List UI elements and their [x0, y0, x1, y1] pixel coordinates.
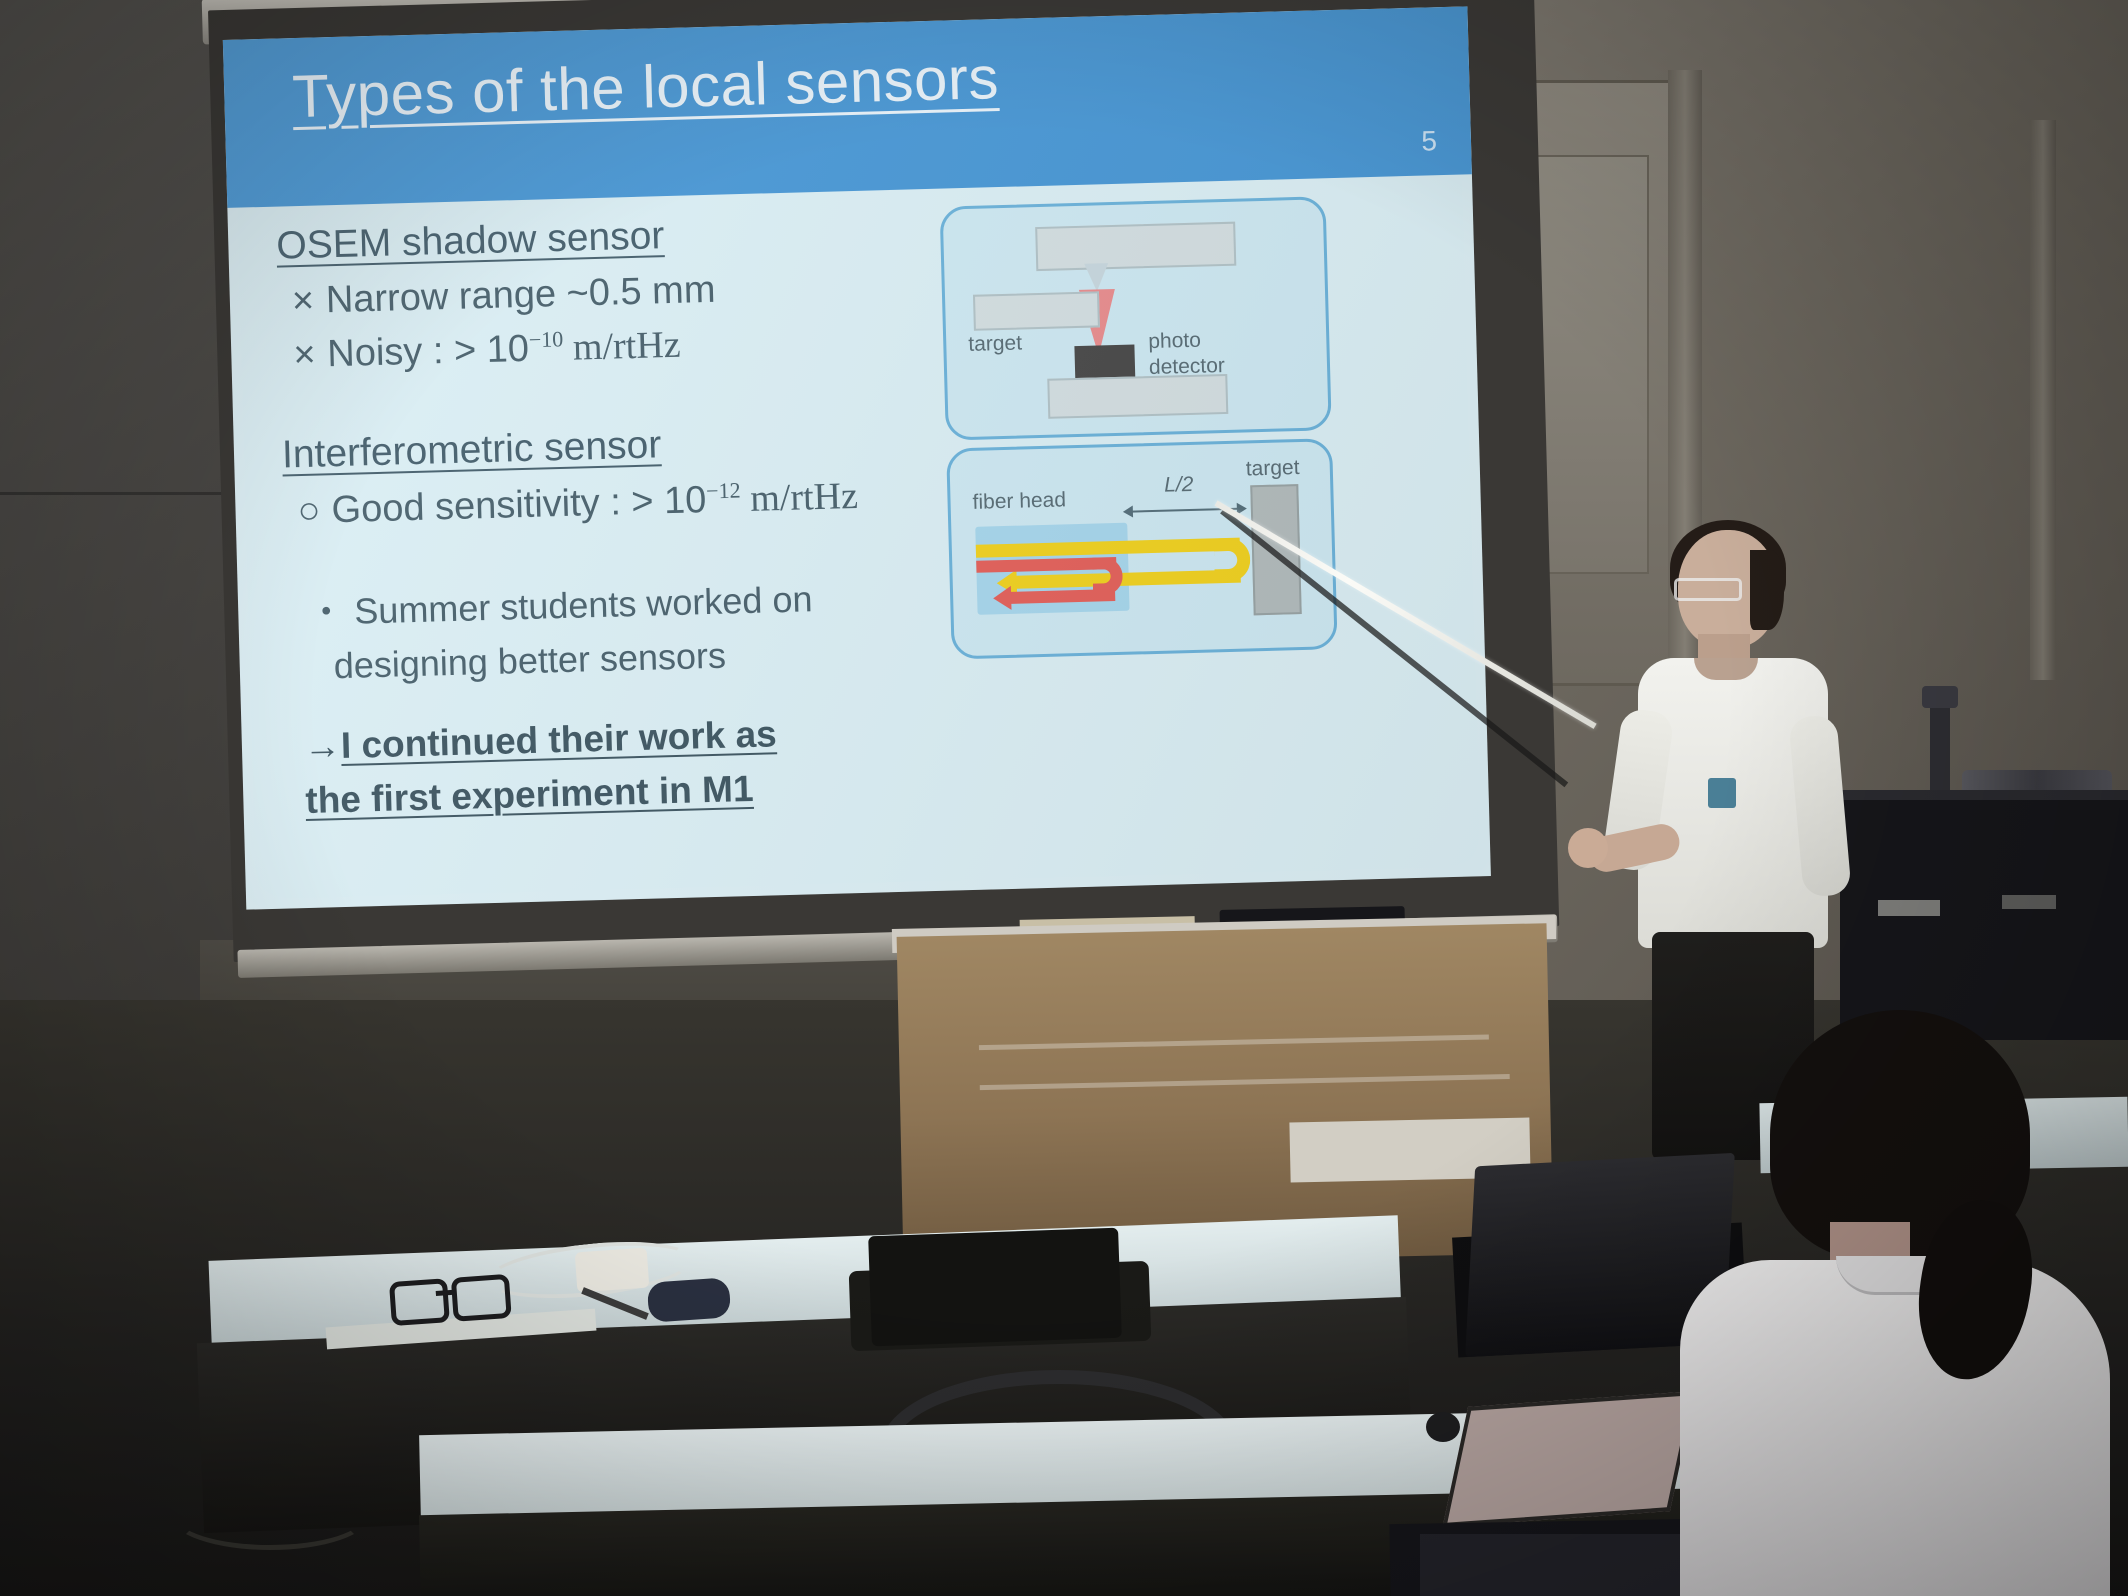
osem-upper-block: [1035, 222, 1236, 271]
podium-groove-2: [980, 1074, 1510, 1090]
section-heading-osem: OSEM shadow sensor: [276, 207, 917, 268]
equipment-table: [1840, 800, 2128, 1040]
desk-puck-object: [1426, 1412, 1460, 1442]
bullet-narrow-range-text: Narrow range ~0.5 mm: [325, 269, 716, 322]
fiber-label-L2: L/2: [1164, 473, 1194, 498]
seated-student: [1690, 1010, 2110, 1596]
slide-surface: Types of the local sensors 5 OSEM shadow…: [223, 6, 1491, 909]
eyeglasses-lens-right: [451, 1274, 512, 1322]
presenter-shirt-logo: [1708, 778, 1736, 808]
wall-seam: [0, 492, 240, 495]
bullet-noisy-prefix: Noisy : > 10: [327, 328, 530, 375]
fiber-label-target: target: [1245, 456, 1299, 481]
optics-knob: [1922, 686, 1958, 708]
presenter-glasses: [1674, 578, 1742, 601]
osem-label-target: target: [968, 331, 1022, 356]
optics-post: [1930, 700, 1950, 800]
osem-target-block: [973, 291, 1100, 330]
diagram-osem-shadow-sensor: target photo detector: [940, 196, 1332, 440]
fiber-beam-red-arrowhead: [993, 586, 1012, 610]
bullet-good-sensitivity-units: m/rtHz: [740, 475, 858, 520]
conclusion-arrow-icon: →: [303, 725, 341, 767]
bullet-narrow-range: ×Narrow range ~0.5 mm: [291, 263, 918, 323]
slide-page-number: 5: [1421, 125, 1437, 157]
lecture-hall-photo: Types of the local sensors 5 OSEM shadow…: [0, 0, 2128, 1596]
bullet-noisy-units: m/rtHz: [563, 324, 681, 369]
bullet-good-sensitivity-exponent: −12: [706, 477, 741, 503]
left-whiteboard-wall: [0, 0, 240, 1010]
desk-bag: [868, 1228, 1122, 1347]
sub-bullet-mark: ・: [308, 591, 345, 633]
presenter-hand: [1568, 828, 1608, 868]
eyeglasses-lens-left: [389, 1278, 450, 1326]
bullet-noisy-exponent: −10: [528, 326, 563, 352]
osem-label-photo: photo: [1148, 329, 1201, 354]
slide-text-column: OSEM shadow sensor ×Narrow range ~0.5 mm…: [276, 207, 932, 830]
osem-base-block: [1047, 374, 1228, 419]
bullet-good-sensitivity-prefix: Good sensitivity : > 10: [331, 479, 707, 531]
projection-screen: Types of the local sensors 5 OSEM shadow…: [222, 0, 1548, 990]
floor-cord: [170, 1480, 370, 1550]
podium: [897, 923, 1554, 1267]
wall-pillar-secondary: [2030, 120, 2056, 680]
slide-header-bar: Types of the local sensors 5: [223, 6, 1472, 208]
equipment-highlight: [1878, 900, 1940, 916]
desk-dark-object: [647, 1277, 732, 1323]
conclusion-text-2: the first experiment in M1: [305, 768, 754, 821]
bullet-mark-circle: ○: [297, 489, 332, 533]
conclusion-text-1: I continued their work as: [340, 713, 777, 766]
desk-tablet: [1443, 1391, 1696, 1527]
bullet-good-sensitivity: ○Good sensitivity : > 10−12 m/rtHz: [297, 472, 924, 533]
bullet-noisy: ×Noisy : > 10−10 m/rtHz: [293, 316, 920, 377]
sub-bullet-summer-students-line2: designing better sensors: [333, 626, 928, 690]
equipment-highlight-secondary: [2002, 895, 2056, 909]
bullet-mark-cross: ×: [291, 279, 326, 323]
desk-eyeglasses: [389, 1274, 511, 1316]
podium-groove-1: [979, 1034, 1489, 1050]
bullet-mark-cross-2: ×: [293, 333, 328, 377]
presenter-hair-side: [1750, 550, 1784, 630]
diagram-interferometric-sensor: fiber head L/2 ta: [946, 438, 1338, 659]
osem-beam-upper: [1084, 263, 1109, 292]
slide-title: Types of the local sensors: [291, 43, 999, 131]
sub-bullet-line-1: Summer students worked on: [354, 578, 813, 631]
student-shirt: [1680, 1260, 2110, 1596]
osem-photodiode-block: [1074, 344, 1135, 380]
desk-charger-brick: [575, 1248, 650, 1293]
fiber-dimension-arrow-left: [1123, 506, 1133, 518]
fiber-label-fiber-head: fiber head: [972, 488, 1066, 515]
